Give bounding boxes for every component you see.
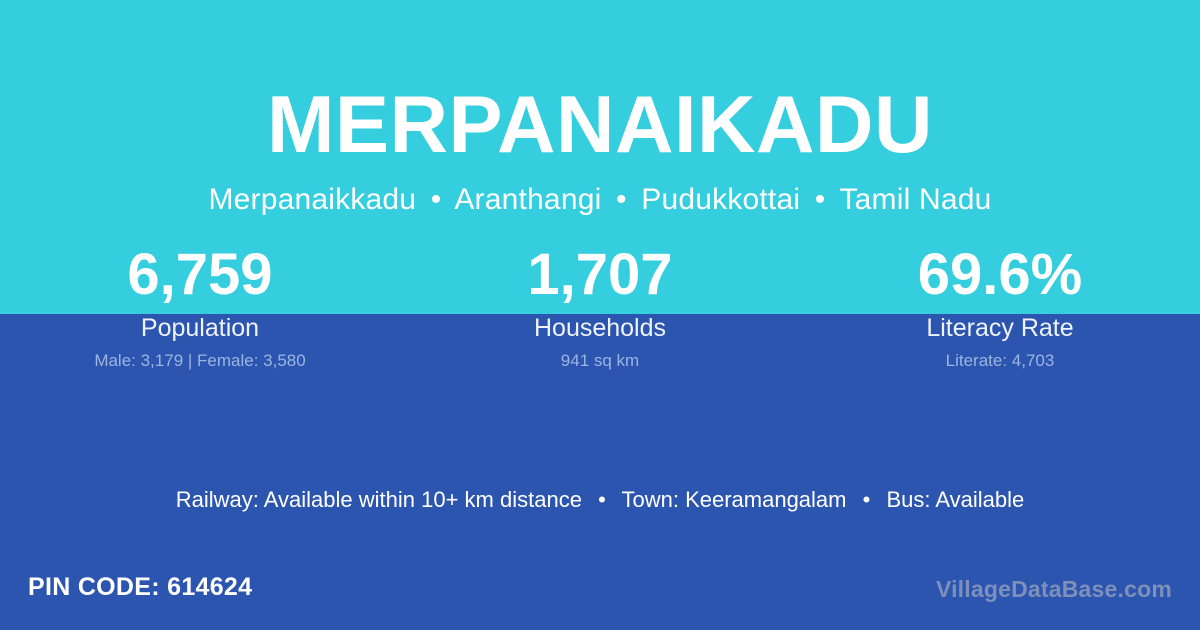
stat-sub-literacy-rate: Literate: 4,703 [800,351,1200,371]
breadcrumb-district: Pudukkottai [641,183,800,216]
stats-row: 6,759 Population Male: 3,179 | Female: 3… [0,244,1200,371]
stat-label-population: Population [0,313,400,343]
pin-code: PIN CODE: 614624 [28,572,252,602]
stat-sub-population: Male: 3,179 | Female: 3,580 [0,351,400,371]
stat-value-population: 6,759 [0,244,400,310]
breadcrumb-state: Tamil Nadu [839,183,991,216]
facility-separator-1: • [588,487,616,512]
breadcrumb: Merpanaikkadu • Aranthangi • Pudukkottai… [0,182,1200,218]
facility-town: Town: Keeramangalam [621,487,846,512]
stat-value-literacy-rate: 69.6% [800,244,1200,310]
stat-sub-households: 941 sq km [400,351,800,371]
stat-label-literacy-rate: Literacy Rate [800,313,1200,343]
facilities-line: Railway: Available within 10+ km distanc… [0,486,1200,514]
card-footer: PIN CODE: 614624 VillageDataBase.com [0,560,1200,630]
breadcrumb-separator-1: • [425,183,448,216]
stat-value-households: 1,707 [400,244,800,310]
facility-separator-2: • [853,487,881,512]
facility-railway: Railway: Available within 10+ km distanc… [176,487,582,512]
stat-population: 6,759 Population Male: 3,179 | Female: 3… [0,244,400,371]
village-info-card: MERPANAIKADU Merpanaikkadu • Aranthangi … [0,0,1200,630]
breadcrumb-separator-2: • [610,183,633,216]
breadcrumb-village: Merpanaikkadu [208,183,416,216]
breadcrumb-separator-3: • [809,183,832,216]
stat-households: 1,707 Households 941 sq km [400,244,800,371]
site-brand: VillageDataBase.com [936,574,1172,604]
breadcrumb-block: Aranthangi [454,183,601,216]
stat-label-households: Households [400,313,800,343]
stat-literacy-rate: 69.6% Literacy Rate Literate: 4,703 [800,244,1200,371]
facility-bus: Bus: Available [886,487,1024,512]
page-title: MERPANAIKADU [0,85,1200,166]
